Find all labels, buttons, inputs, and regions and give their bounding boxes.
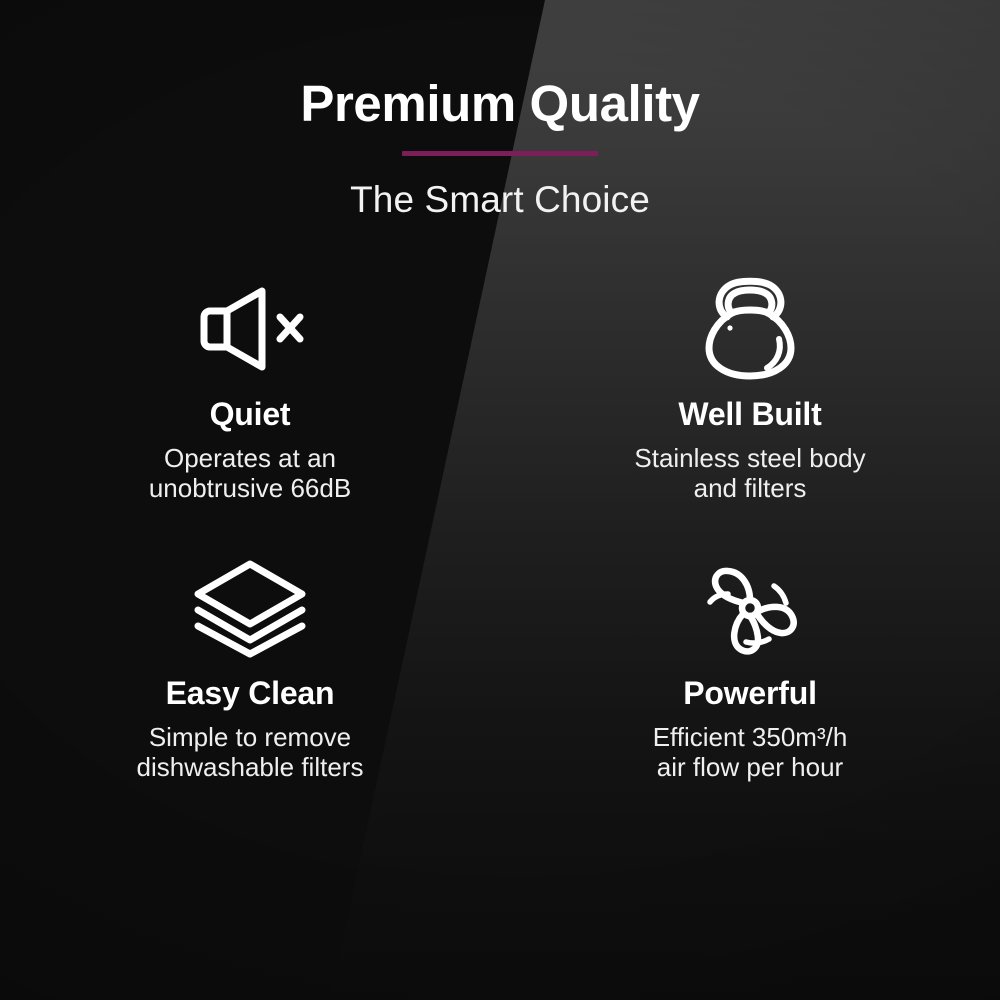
- feature-card-well-built: Well Built Stainless steel body and filt…: [500, 277, 1000, 504]
- feature-title: Well Built: [678, 397, 821, 432]
- feature-title: Powerful: [683, 676, 817, 711]
- page-title: Premium Quality: [0, 78, 1000, 129]
- title-underline: [402, 151, 598, 156]
- page-subtitle: The Smart Choice: [0, 179, 1000, 221]
- stacked-layers-icon: [192, 556, 308, 660]
- feature-card-quiet: Quiet Operates at an unobtrusive 66dB: [0, 277, 500, 504]
- header: Premium Quality The Smart Choice: [0, 0, 1000, 221]
- panel-content: Premium Quality The Smart Choice Quiet O…: [0, 0, 1000, 1000]
- feature-description: Simple to remove dishwashable filters: [137, 722, 364, 782]
- feature-description: Efficient 350m³/h air flow per hour: [653, 722, 848, 782]
- promo-panel: Premium Quality The Smart Choice Quiet O…: [0, 0, 1000, 1000]
- feature-title: Quiet: [210, 397, 291, 432]
- feature-grid: Quiet Operates at an unobtrusive 66dB We…: [0, 277, 1000, 782]
- speaker-mute-icon: [194, 277, 306, 381]
- feature-card-powerful: Powerful Efficient 350m³/h air flow per …: [500, 556, 1000, 783]
- fan-blades-icon: [698, 556, 802, 660]
- feature-card-easy-clean: Easy Clean Simple to remove dishwashable…: [0, 556, 500, 783]
- feature-description: Operates at an unobtrusive 66dB: [149, 443, 351, 503]
- feature-description: Stainless steel body and filters: [634, 443, 865, 503]
- kettlebell-icon: [702, 277, 798, 381]
- feature-title: Easy Clean: [166, 676, 335, 711]
